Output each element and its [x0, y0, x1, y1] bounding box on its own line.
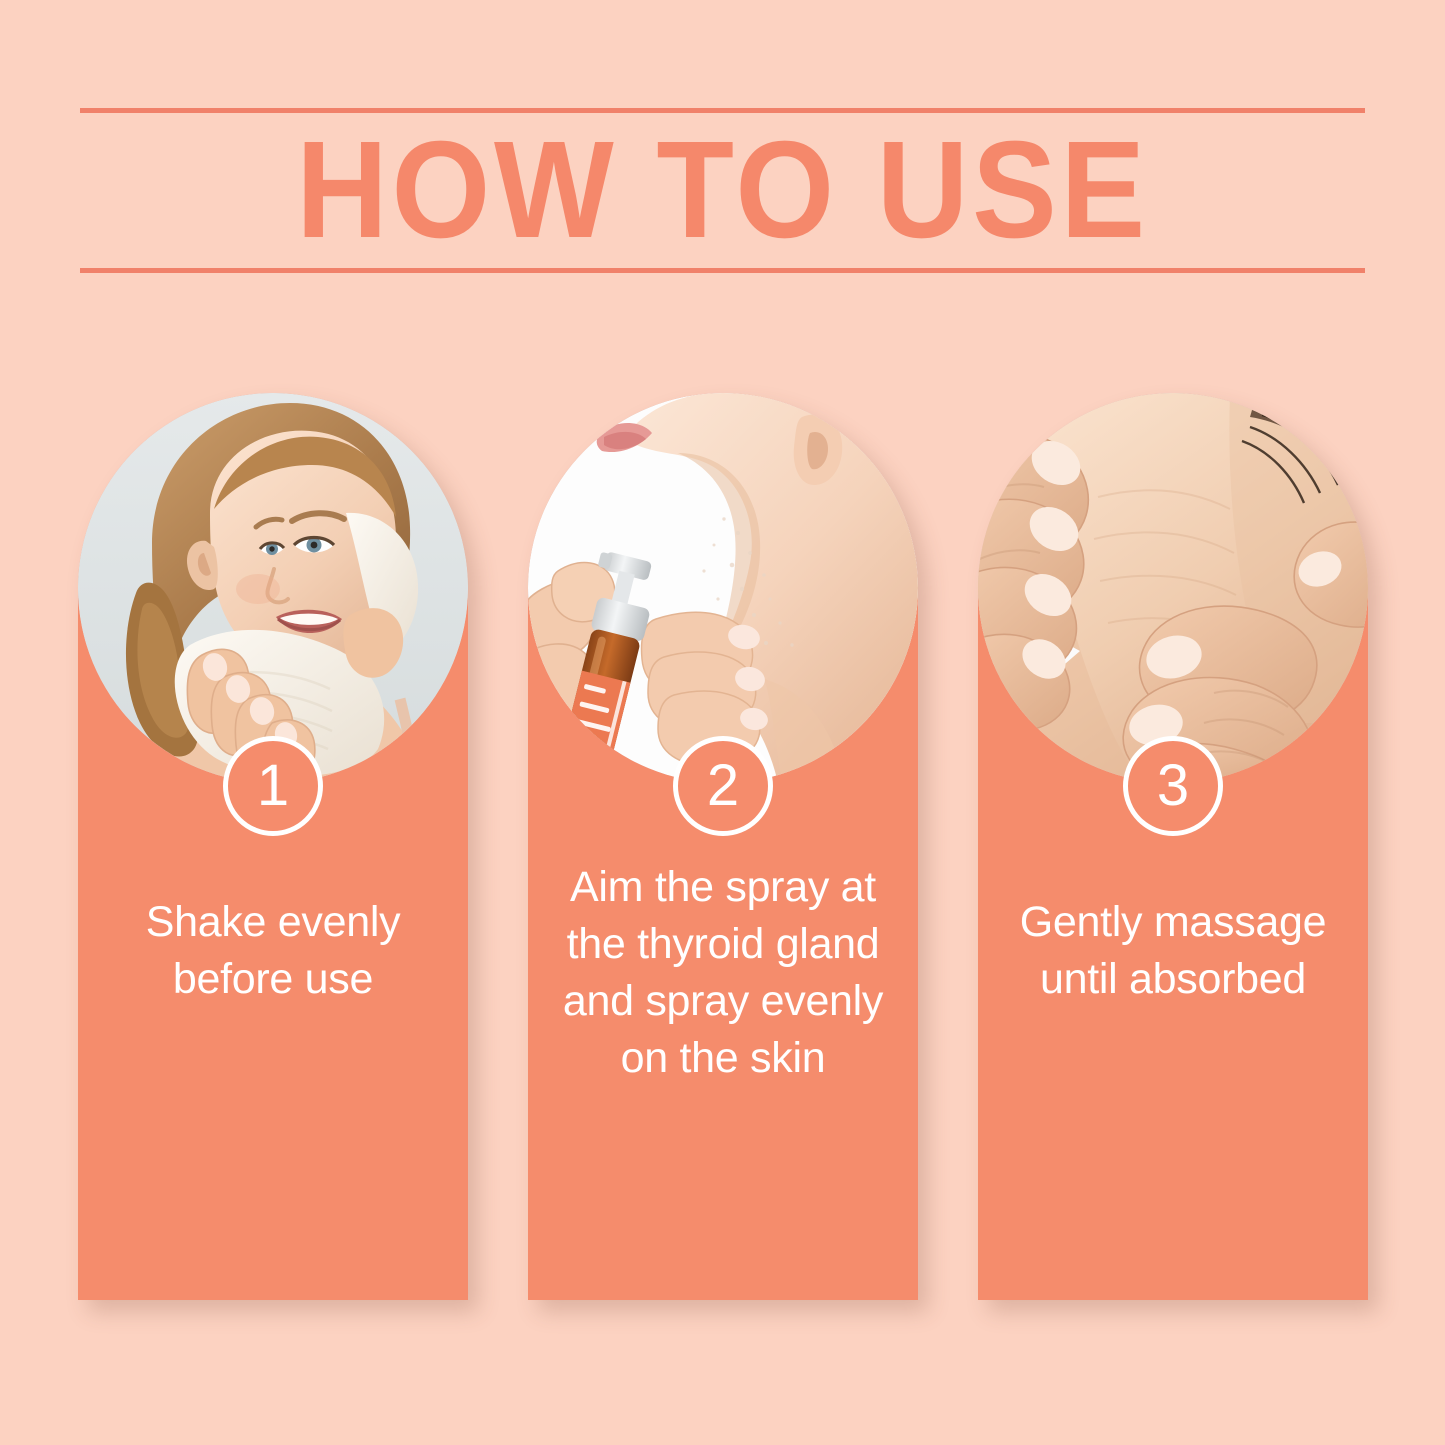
- step-number: 2: [707, 757, 739, 815]
- step-image-2: [528, 393, 918, 783]
- steps-row: 1 Shake evenly before use: [78, 393, 1368, 1303]
- step-number-badge: 1: [223, 736, 323, 836]
- step-number: 1: [257, 757, 289, 815]
- step-card-2: 2 Aim the spray at the thyroid gland and…: [528, 393, 918, 1300]
- step-image-1: [78, 393, 468, 783]
- step-caption: Shake evenly before use: [84, 894, 462, 1008]
- step-caption: Gently massage until absorbed: [984, 894, 1362, 1008]
- page-header: HOW TO USE: [80, 108, 1365, 273]
- step-number-badge: 3: [1123, 736, 1223, 836]
- header-rule-bottom: [80, 268, 1365, 273]
- step-card-3: 3 Gently massage until absorbed: [978, 393, 1368, 1300]
- step-number-badge: 2: [673, 736, 773, 836]
- step-number: 3: [1157, 757, 1189, 815]
- step-card-1: 1 Shake evenly before use: [78, 393, 468, 1300]
- step-image-3: [978, 393, 1368, 783]
- step-caption: Aim the spray at the thyroid gland and s…: [534, 859, 912, 1087]
- page-title: HOW TO USE: [131, 114, 1313, 266]
